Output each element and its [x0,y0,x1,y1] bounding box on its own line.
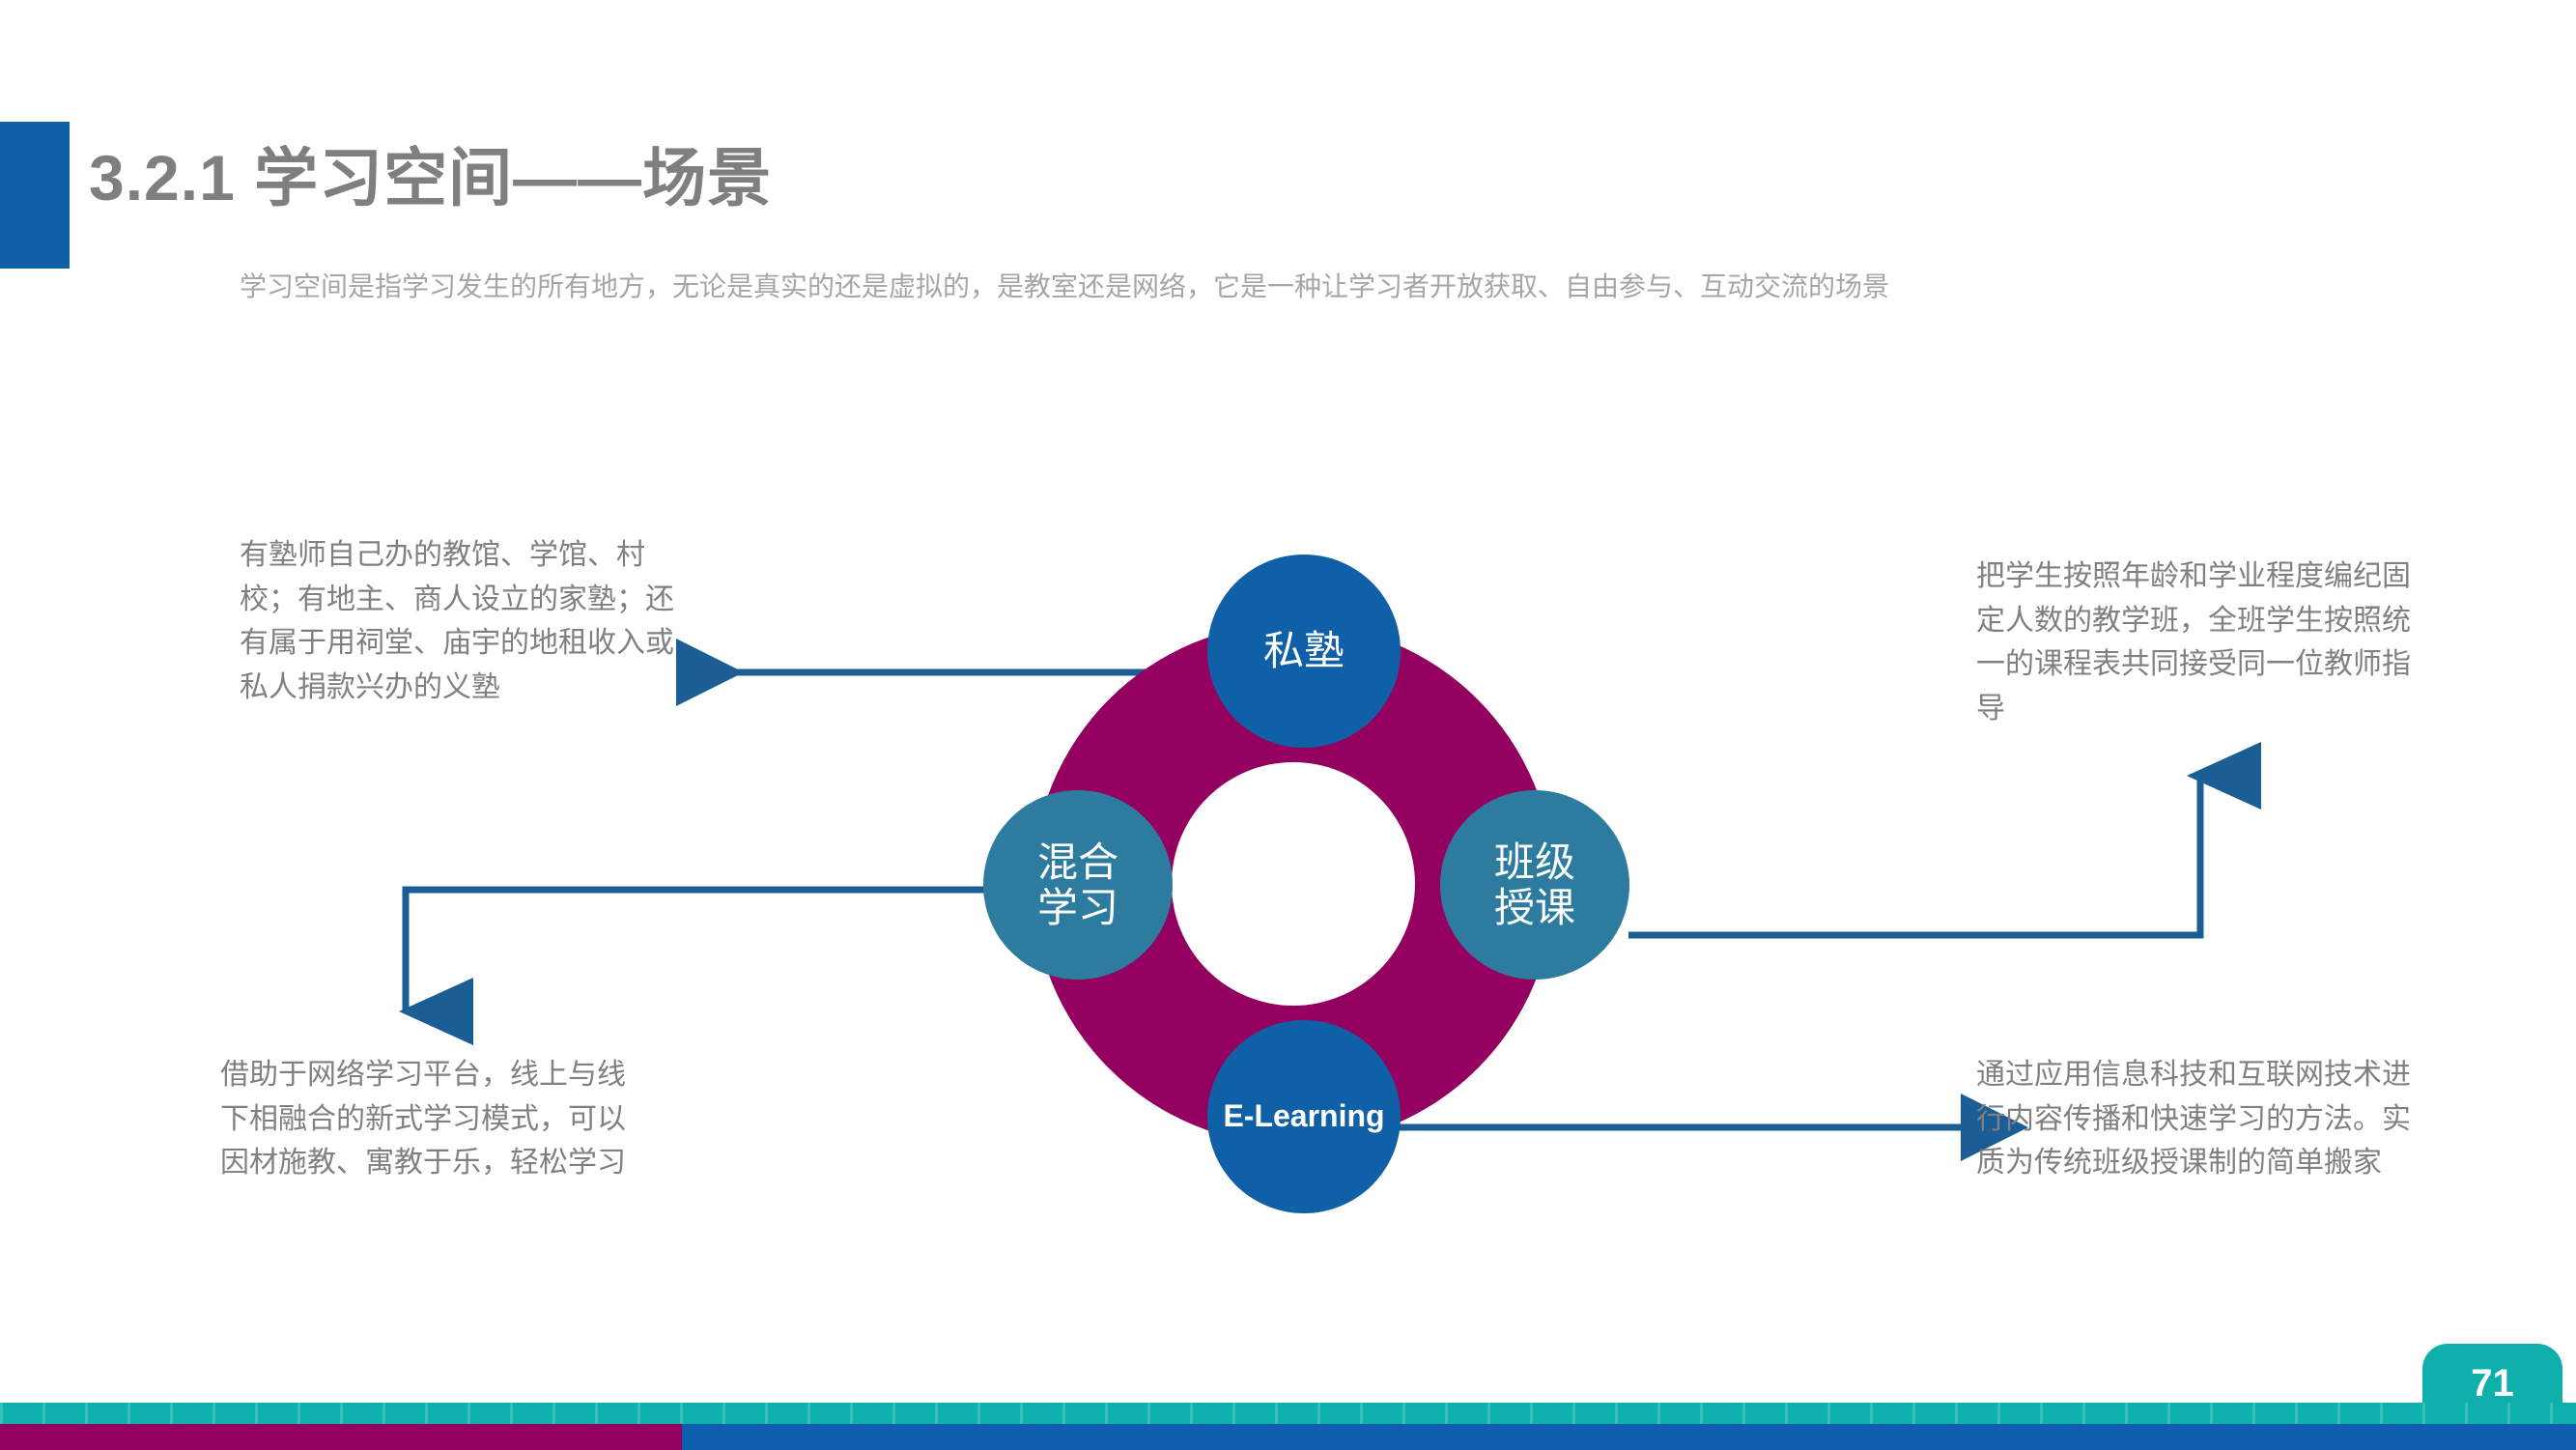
node-blended-learning-label: 混合 学习 [1037,839,1118,930]
title-accent-bar [0,122,70,269]
connector-bottom-left [406,890,985,1011]
footer-tick-marks [0,1403,2576,1424]
node-elearning[interactable]: E-Learning [1207,1020,1401,1213]
callout-bottom-left: 借助于网络学习平台，线上与线下相融合的新式学习模式，可以因材施教、寓教于乐，轻松… [220,1053,645,1185]
page-title: 3.2.1 学习空间——场景 [89,143,772,213]
node-class-teaching[interactable]: 班级 授课 [1440,790,1629,980]
page-subtitle: 学习空间是指学习发生的所有地方，无论是真实的还是虚拟的，是教室还是网络，它是一种… [240,270,1889,303]
callout-bottom-right: 通过应用信息科技和互联网技术进行内容传播和快速学习的方法。实质为传统班级授课制的… [1976,1053,2411,1185]
node-sishu-label: 私塾 [1263,628,1345,673]
node-class-teaching-label: 班级 授课 [1494,839,1575,930]
callout-top-left: 有塾师自己办的教馆、学馆、村校；有地主、商人设立的家塾；还有属于用祠堂、庙宇的地… [240,533,694,709]
slide-canvas: 3.2.1 学习空间——场景 学习空间是指学习发生的所有地方，无论是真实的还是虚… [0,0,2576,1450]
footer-magenta-bar [0,1424,682,1450]
footer-blue-bar [682,1424,2576,1450]
connector-top-right [1628,776,2200,935]
callout-top-right: 把学生按照年龄和学业程度编纪固定人数的教学班，全班学生按照统一的课程表共同接受同… [1976,554,2411,730]
node-elearning-label: E-Learning [1223,1099,1384,1134]
node-blended-learning[interactable]: 混合 学习 [983,790,1173,980]
node-sishu[interactable]: 私塾 [1207,554,1401,748]
center-ring-hole [1172,762,1415,1006]
